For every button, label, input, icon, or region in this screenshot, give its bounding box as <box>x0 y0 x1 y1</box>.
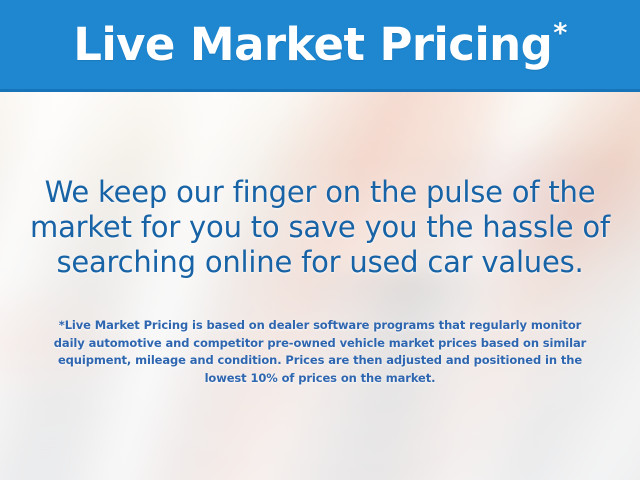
disclaimer-line: daily automotive and competitor pre-owne… <box>20 335 620 353</box>
disclaimer-text: *Live Market Pricing is based on dealer … <box>20 317 620 387</box>
disclaimer-line: equipment, mileage and condition. Prices… <box>20 352 620 370</box>
headline: We keep our finger on the pulse of the m… <box>20 175 620 280</box>
live-market-pricing-slide: Live Market Pricing* We keep our finger … <box>0 0 640 480</box>
page-title-text: Live Market Pricing <box>73 22 552 67</box>
slide-content: We keep our finger on the pulse of the m… <box>0 92 640 480</box>
disclaimer-line: lowest 10% of prices on the market. <box>20 370 620 388</box>
headline-line: searching online for used car values. <box>20 245 620 280</box>
page-title-asterisk: * <box>553 20 567 47</box>
disclaimer-line: *Live Market Pricing is based on dealer … <box>20 317 620 335</box>
headline-line: We keep our finger on the pulse of the <box>20 175 620 210</box>
page-title: Live Market Pricing* <box>0 0 640 89</box>
header-band: Live Market Pricing* <box>0 0 640 92</box>
headline-line: market for you to save you the hassle of <box>20 210 620 245</box>
